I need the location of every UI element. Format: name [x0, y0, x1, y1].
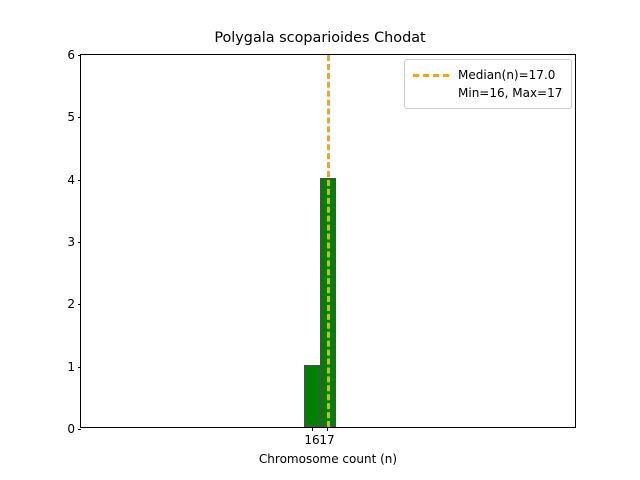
x-axis-label: Chromosome count (n) [80, 452, 576, 466]
ytick-label-6: 6 [67, 48, 75, 62]
xtick-mark-16 [312, 427, 313, 431]
bar-16 [304, 365, 320, 427]
y-axis-label: Num of counts (Total 5) [0, 0, 40, 94]
legend-entry-median: Median(n)=17.0 [413, 66, 562, 84]
ytick-label-2: 2 [67, 297, 75, 311]
ytick-mark-6 [78, 55, 82, 56]
ytick-label-1: 1 [67, 360, 75, 374]
matplotlib-figure: Polygala scoparioides Chodat 0 1 2 3 4 5… [0, 0, 640, 480]
legend-label-minmax: Min=16, Max=17 [458, 86, 562, 100]
ytick-mark-2 [78, 304, 82, 305]
ytick-mark-1 [78, 367, 82, 368]
ytick-mark-0 [78, 429, 82, 430]
xtick-label-16: 16 [304, 433, 319, 447]
median-line [327, 55, 330, 427]
legend-label-median: Median(n)=17.0 [458, 68, 555, 82]
ytick-mark-3 [78, 242, 82, 243]
legend-entry-minmax: Min=16, Max=17 [413, 84, 562, 102]
ytick-mark-5 [78, 117, 82, 118]
dashed-line-icon [413, 74, 449, 77]
page-title: Polygala scoparioides Chodat [0, 30, 640, 46]
xtick-label-17: 17 [319, 433, 334, 447]
ytick-label-3: 3 [67, 235, 75, 249]
plot-area [81, 55, 575, 427]
plot-axes: 0 1 2 3 4 5 6 16 17 [80, 54, 576, 428]
ytick-label-5: 5 [67, 110, 75, 124]
ytick-mark-4 [78, 180, 82, 181]
ytick-label-4: 4 [67, 173, 75, 187]
xtick-mark-17 [327, 427, 328, 431]
ytick-label-0: 0 [67, 422, 75, 436]
legend: Median(n)=17.0 Min=16, Max=17 [404, 59, 572, 109]
